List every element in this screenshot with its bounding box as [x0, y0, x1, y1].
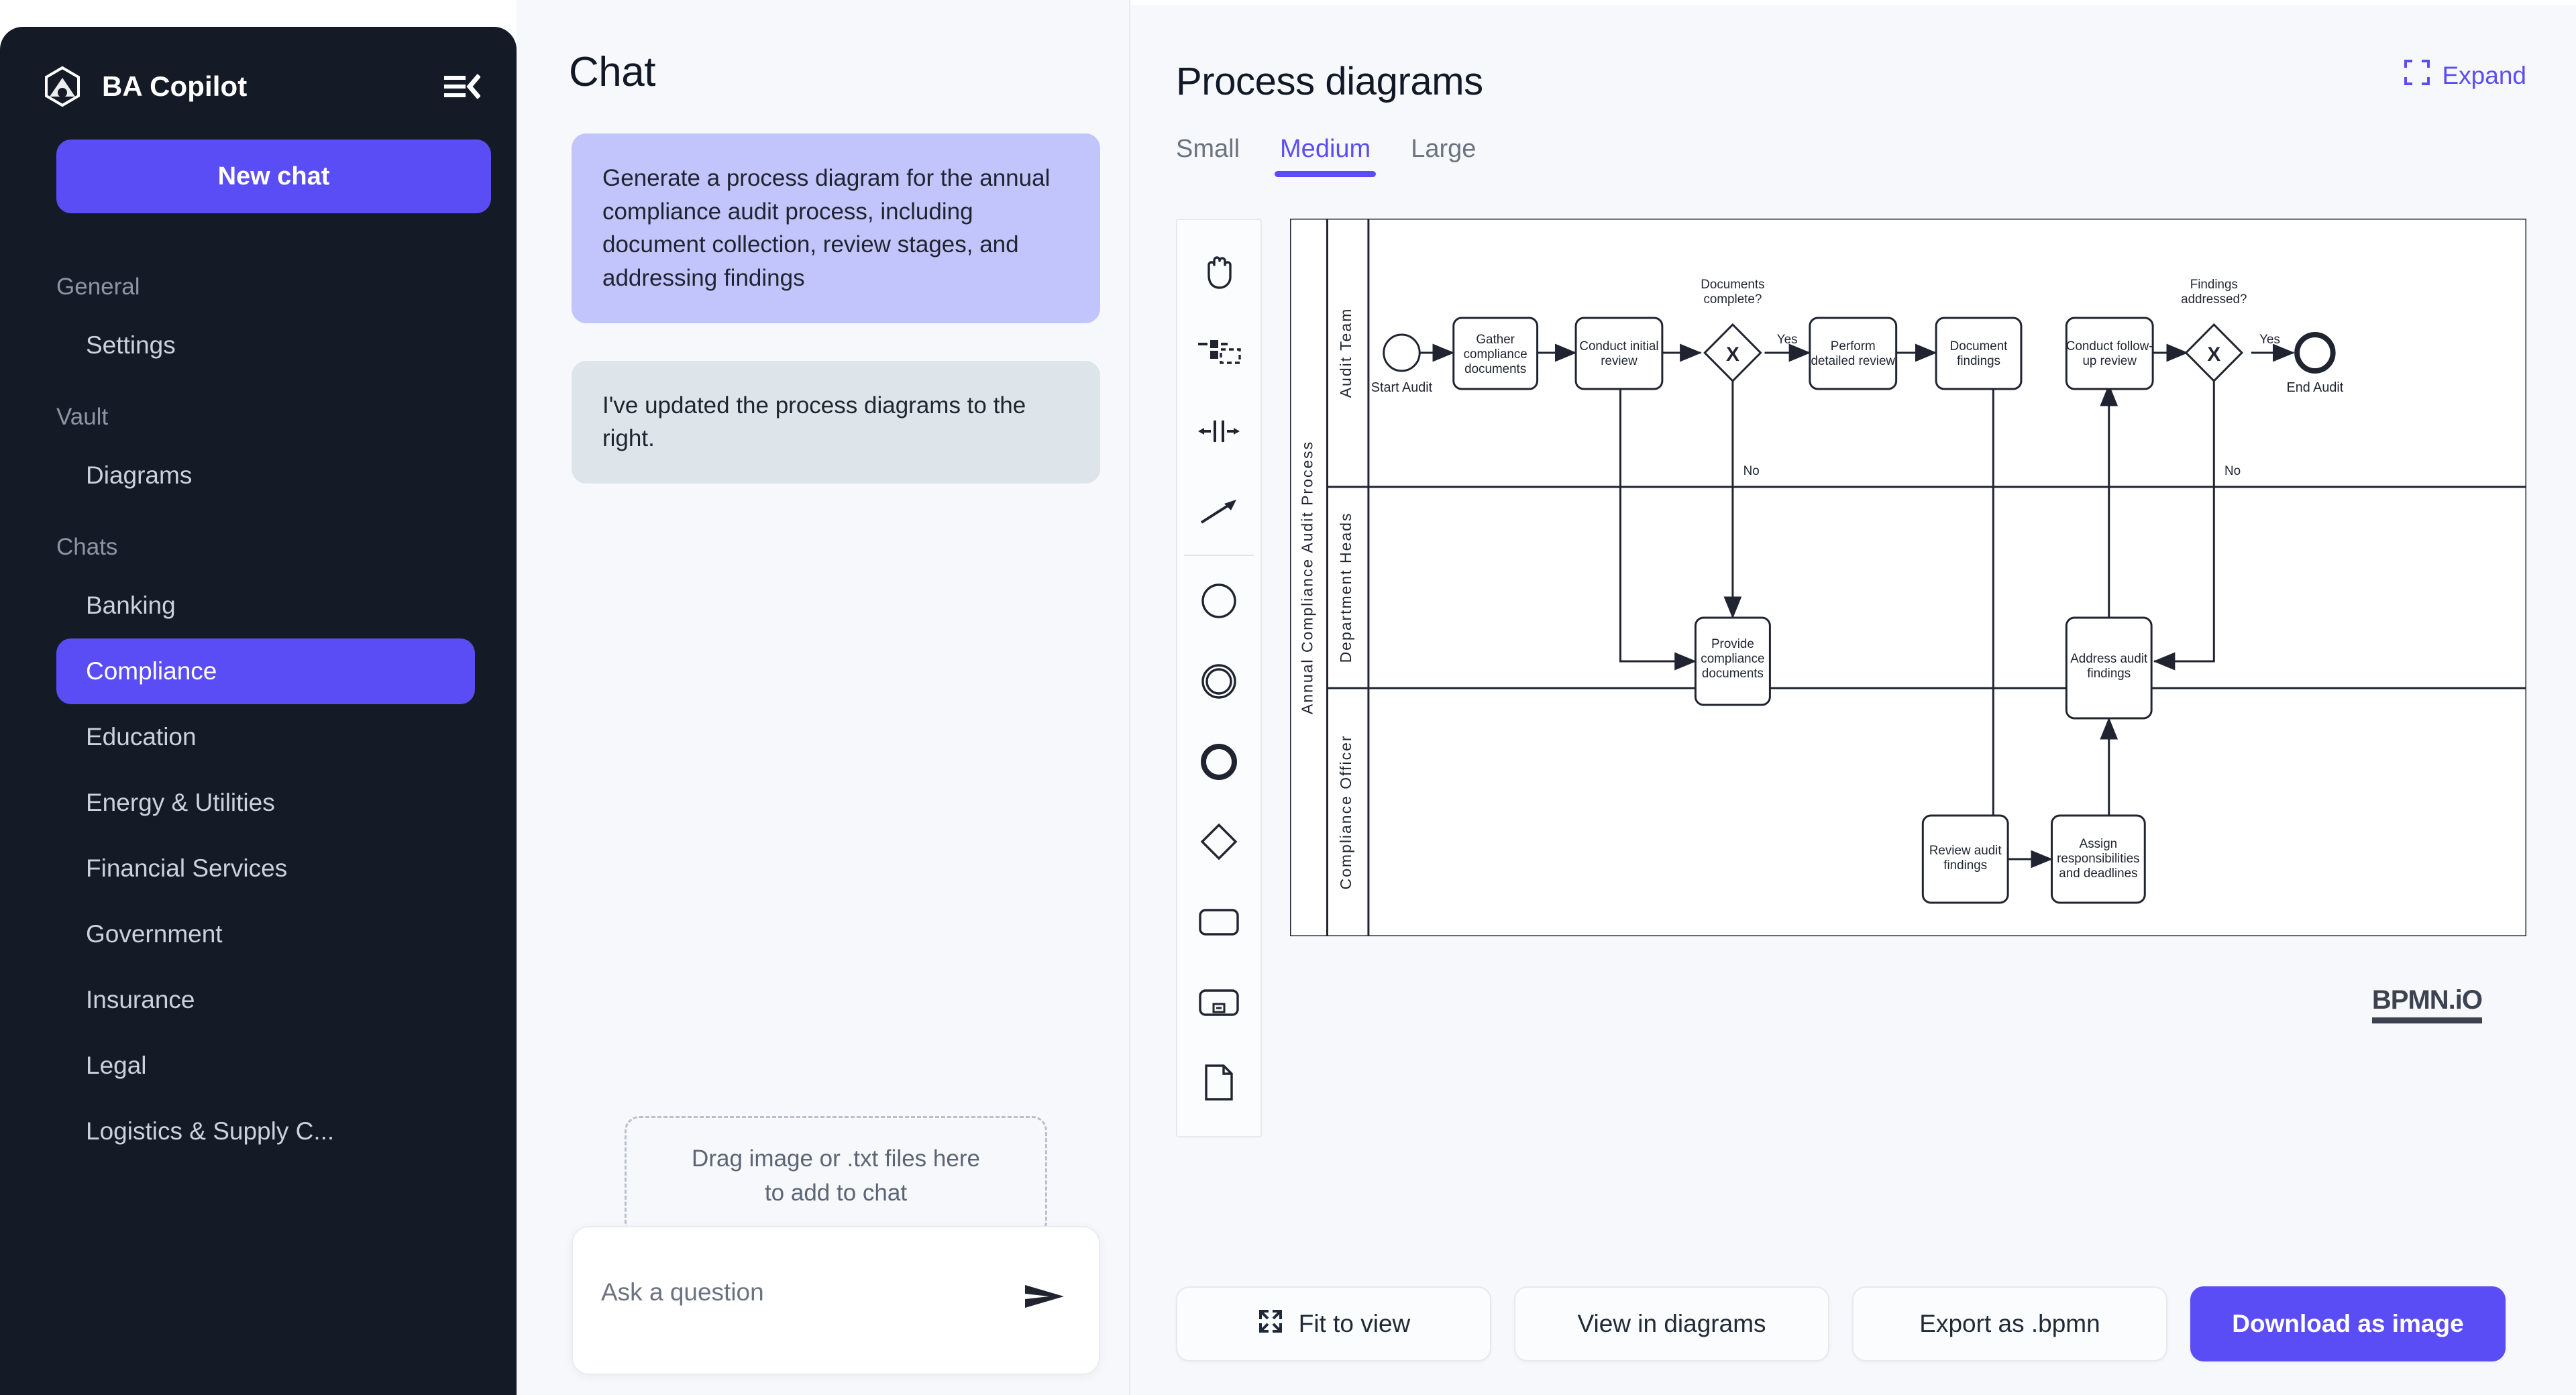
diagram-canvas-area: Annual Compliance Audit Process Audit Te…: [1176, 219, 2526, 1286]
diagram-panel: Process diagrams Expand Small Medium: [1130, 0, 2576, 1395]
sidebar-item-label: Government: [86, 920, 223, 948]
dropzone-line-1: Drag image or .txt files here: [692, 1142, 980, 1176]
sidebar-item-label: Compliance: [86, 657, 217, 685]
subprocess-icon[interactable]: [1179, 962, 1259, 1043]
task-icon[interactable]: [1179, 882, 1259, 962]
sidebar-item-government[interactable]: Government: [56, 901, 475, 967]
fit-to-view-label: Fit to view: [1299, 1310, 1411, 1338]
sidebar-group-label-general: General: [0, 248, 517, 313]
sidebar-item-banking[interactable]: Banking: [56, 573, 475, 638]
svg-text:Yes: Yes: [1777, 333, 1798, 347]
tab-small[interactable]: Small: [1176, 135, 1260, 177]
chat-message-user: Generate a process diagram for the annua…: [572, 133, 1100, 323]
expand-button[interactable]: Expand: [2404, 59, 2527, 92]
end-event-icon[interactable]: [1179, 722, 1259, 802]
node-end-event: [2297, 335, 2333, 371]
svg-text:addressed?: addressed?: [2181, 292, 2247, 306]
sidebar-item-label: Settings: [86, 331, 176, 359]
svg-text:End Audit: End Audit: [2287, 380, 2344, 395]
composer: Drag image or .txt files here to add to …: [572, 1109, 1100, 1375]
chat-panel: Chat Generate a process diagram for the …: [517, 0, 1130, 1395]
sidebar-item-label: Financial Services: [86, 854, 287, 883]
svg-text:Yes: Yes: [2259, 333, 2280, 347]
start-event-icon[interactable]: [1179, 561, 1259, 642]
bpmn-diagram[interactable]: Annual Compliance Audit Process Audit Te…: [1290, 219, 2526, 936]
svg-text:detailed review: detailed review: [1811, 354, 1895, 368]
svg-text:Review audit: Review audit: [1929, 844, 2002, 858]
brand: BA Copilot: [42, 66, 247, 107]
sidebar-item-label: Insurance: [86, 986, 195, 1014]
svg-text:Assign: Assign: [2080, 837, 2117, 851]
sidebar-header: BA Copilot: [0, 27, 517, 107]
sidebar-item-financial-services[interactable]: Financial Services: [56, 836, 475, 901]
space-tool-icon[interactable]: [1179, 391, 1259, 471]
lane-label-audit-team: Audit Team: [1337, 308, 1354, 398]
export-as-bpmn-button[interactable]: Export as .bpmn: [1852, 1286, 2167, 1361]
sidebar-item-diagrams[interactable]: Diagrams: [56, 443, 475, 508]
svg-text:Conduct initial: Conduct initial: [1579, 339, 1658, 353]
svg-text:Document: Document: [1950, 339, 2008, 353]
bpmn-io-watermark: BPMN.iO: [2372, 985, 2482, 1023]
sidebar-item-label: Education: [86, 723, 197, 751]
ask-question-input[interactable]: Ask a question: [572, 1226, 1100, 1375]
sidebar-group-label-chats: Chats: [0, 508, 517, 573]
chat-title: Chat: [517, 0, 1129, 96]
sidebar-item-insurance[interactable]: Insurance: [56, 967, 475, 1033]
sidebar-item-education[interactable]: Education: [56, 704, 475, 770]
bpmn-io-watermark-bar: [2372, 1017, 2482, 1023]
lasso-tool-icon[interactable]: [1179, 311, 1259, 392]
svg-text:Start Audit: Start Audit: [1371, 380, 1433, 395]
hand-tool-icon[interactable]: [1179, 231, 1259, 311]
node-start-event: [1384, 335, 1420, 371]
view-in-diagrams-button[interactable]: View in diagrams: [1514, 1286, 1829, 1361]
svg-text:Provide: Provide: [1711, 637, 1754, 651]
intermediate-event-icon[interactable]: [1179, 641, 1259, 722]
download-as-image-button[interactable]: Download as image: [2190, 1286, 2506, 1361]
sidebar-item-legal[interactable]: Legal: [56, 1033, 475, 1099]
page-title: Process diagrams: [1176, 59, 1483, 104]
sidebar-item-label: Banking: [86, 592, 176, 620]
sidebar-item-label: Diagrams: [86, 461, 192, 490]
fit-to-view-icon: [1257, 1308, 1284, 1341]
new-chat-button[interactable]: New chat: [56, 139, 491, 213]
app-root: BA Copilot New chat General Settings Vau…: [0, 0, 2576, 1395]
sidebar-item-label: Legal: [86, 1052, 147, 1080]
file-dropzone[interactable]: Drag image or .txt files here to add to …: [625, 1116, 1047, 1237]
sidebar-item-logistics-supply-chain[interactable]: Logistics & Supply C...: [56, 1099, 475, 1164]
svg-text:X: X: [1726, 343, 1739, 366]
diagram-actions: Fit to view View in diagrams Export as .…: [1130, 1286, 2576, 1395]
hexagon-logo-icon: [42, 66, 83, 107]
tab-large[interactable]: Large: [1391, 135, 1496, 177]
lane-label-department-heads: Department Heads: [1337, 512, 1354, 663]
fit-to-view-button[interactable]: Fit to view: [1176, 1286, 1491, 1361]
sidebar-nav: General Settings Vault Diagrams Chats Ba…: [0, 248, 517, 1395]
tab-label: Medium: [1280, 135, 1371, 163]
data-object-icon[interactable]: [1179, 1042, 1259, 1123]
sidebar-item-compliance[interactable]: Compliance: [56, 638, 475, 704]
svg-text:Findings: Findings: [2190, 278, 2238, 292]
svg-text:compliance: compliance: [1464, 347, 1527, 361]
svg-text:Documents: Documents: [1701, 278, 1764, 292]
pool-label: Annual Compliance Audit Process: [1299, 441, 1316, 714]
sidebar-group-label-vault: Vault: [0, 378, 517, 443]
svg-text:X: X: [2207, 343, 2220, 366]
app-title: BA Copilot: [102, 70, 247, 103]
svg-text:and deadlines: and deadlines: [2059, 867, 2137, 881]
svg-text:Perform: Perform: [1831, 339, 1876, 353]
bpmn-diagram-svg: Annual Compliance Audit Process Audit Te…: [1290, 219, 2526, 936]
bpmn-palette: [1176, 219, 1262, 1137]
expand-label: Expand: [2443, 62, 2527, 90]
bpmn-io-watermark-text: BPMN.iO: [2372, 985, 2482, 1015]
sidebar: BA Copilot New chat General Settings Vau…: [0, 27, 517, 1395]
svg-text:complete?: complete?: [1703, 292, 1762, 306]
svg-text:documents: documents: [1702, 667, 1764, 681]
tab-label: Large: [1411, 135, 1476, 163]
ask-question-placeholder: Ask a question: [601, 1278, 764, 1306]
send-arrow-icon[interactable]: [1022, 1278, 1067, 1315]
connect-tool-icon[interactable]: [1179, 471, 1259, 552]
svg-text:compliance: compliance: [1701, 652, 1764, 666]
sidebar-item-label: Logistics & Supply C...: [86, 1117, 334, 1146]
sidebar-item-settings[interactable]: Settings: [56, 313, 475, 378]
svg-text:Conduct follow-: Conduct follow-: [2066, 339, 2153, 353]
svg-text:No: No: [2224, 464, 2241, 478]
top-strip: [1130, 0, 2576, 5]
collapse-sidebar-icon[interactable]: [443, 72, 480, 101]
palette-divider: [1184, 555, 1254, 556]
svg-text:findings: findings: [1957, 354, 2000, 368]
svg-text:Gather: Gather: [1476, 333, 1515, 347]
svg-text:findings: findings: [2087, 667, 2131, 681]
svg-text:up review: up review: [2082, 354, 2137, 368]
diagram-panel-header: Process diagrams Expand: [1130, 0, 2576, 104]
chat-message-assistant: I've updated the process diagrams to the…: [572, 361, 1100, 484]
tab-label: Small: [1176, 135, 1240, 163]
lane-label-compliance-officer: Compliance Officer: [1337, 735, 1354, 890]
svg-text:No: No: [1743, 464, 1760, 478]
tab-medium[interactable]: Medium: [1260, 135, 1391, 177]
sidebar-item-energy-utilities[interactable]: Energy & Utilities: [56, 770, 475, 836]
dropzone-line-2: to add to chat: [765, 1176, 907, 1211]
sidebar-item-label: Energy & Utilities: [86, 789, 275, 817]
size-tabs: Small Medium Large: [1130, 104, 2576, 177]
svg-text:review: review: [1601, 354, 1638, 368]
expand-corners-icon: [2404, 59, 2430, 92]
svg-text:Address audit: Address audit: [2070, 652, 2148, 666]
gateway-icon[interactable]: [1179, 801, 1259, 882]
svg-text:responsibilities: responsibilities: [2057, 852, 2139, 866]
svg-text:findings: findings: [1943, 858, 1987, 873]
svg-text:documents: documents: [1464, 362, 1526, 376]
